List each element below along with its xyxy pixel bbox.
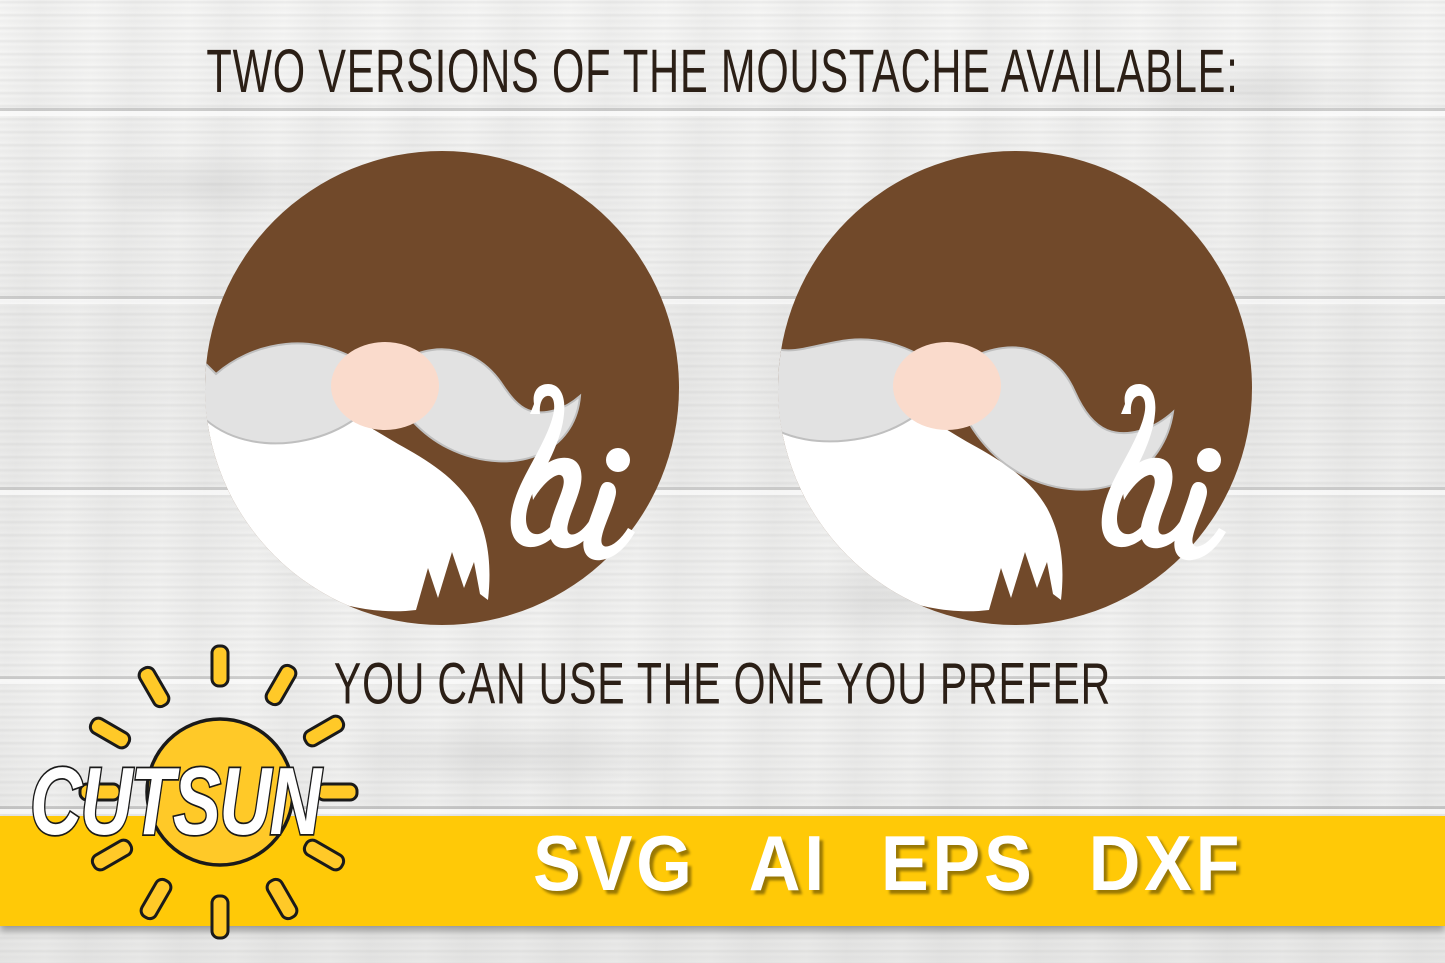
page-title: TWO VERSIONS OF THE MOUSTACHE AVAILABLE:: [145, 37, 1301, 108]
gnome-left: [202, 148, 682, 628]
format-dxf: DXF: [1089, 819, 1244, 907]
logo-text: CUTSUN: [30, 748, 323, 855]
poster-canvas: TWO VERSIONS OF THE MOUSTACHE AVAILABLE:: [0, 0, 1445, 963]
format-ai: AI: [749, 819, 828, 907]
gnome-right: [775, 148, 1255, 628]
cutsun-logo: CUTSUN: [18, 638, 348, 948]
format-svg: SVG: [533, 819, 696, 907]
nose-shape: [331, 342, 439, 430]
nose-shape: [893, 342, 1001, 430]
format-eps: EPS: [881, 819, 1036, 907]
